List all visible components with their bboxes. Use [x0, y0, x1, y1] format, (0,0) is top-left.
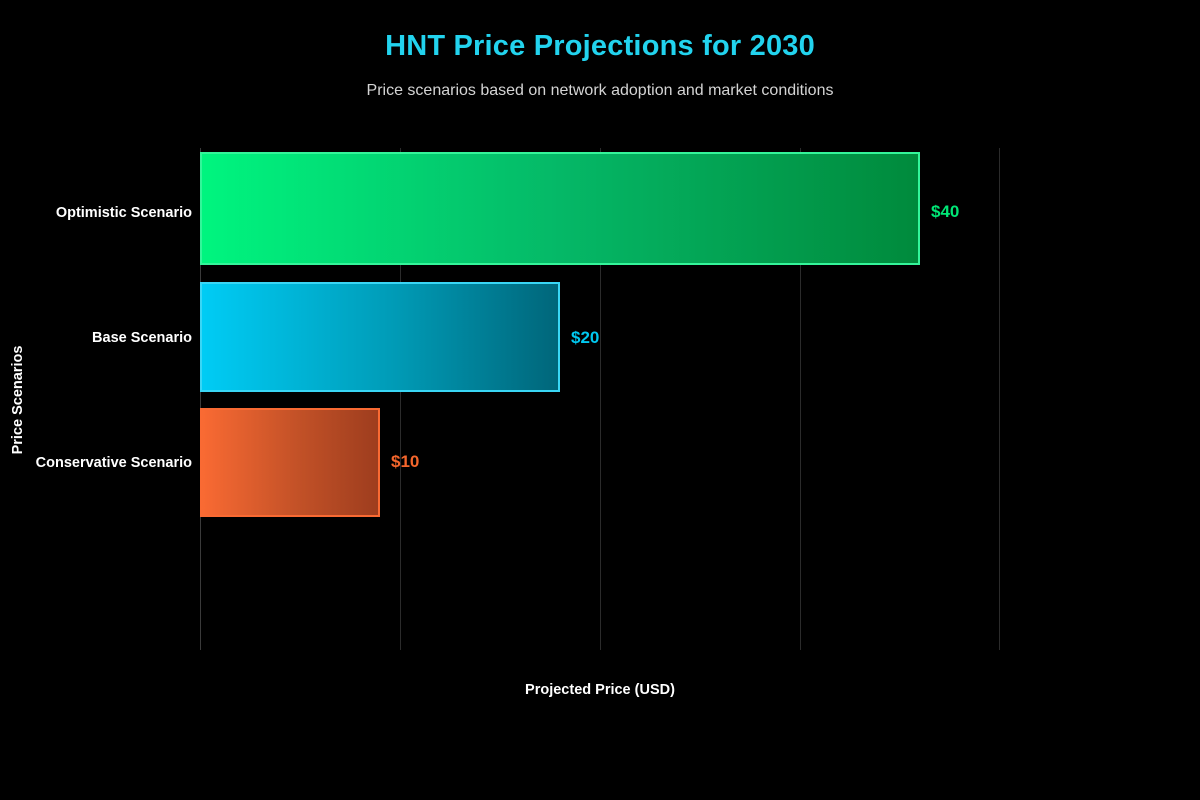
bar-base-scenario[interactable]	[200, 282, 560, 392]
value-label-base: $20	[571, 328, 599, 348]
plot-area: $40 $20 $10	[200, 148, 1000, 650]
y-axis-tick-labels: Optimistic Scenario Base Scenario Conser…	[0, 0, 192, 800]
gridline-40	[999, 148, 1000, 650]
ytick-label-base: Base Scenario	[92, 330, 192, 346]
y-axis-title: Price Scenarios	[10, 346, 26, 455]
value-label-conservative: $10	[391, 452, 419, 472]
bar-chart: HNT Price Projections for 2030 Price sce…	[0, 0, 1200, 800]
bar-optimistic-scenario[interactable]	[200, 152, 920, 265]
x-axis-title: Projected Price (USD)	[200, 682, 1000, 698]
ytick-label-optimistic: Optimistic Scenario	[56, 205, 192, 221]
bar-conservative-scenario[interactable]	[200, 408, 380, 517]
value-label-optimistic: $40	[931, 202, 959, 222]
ytick-label-conservative: Conservative Scenario	[36, 455, 192, 471]
